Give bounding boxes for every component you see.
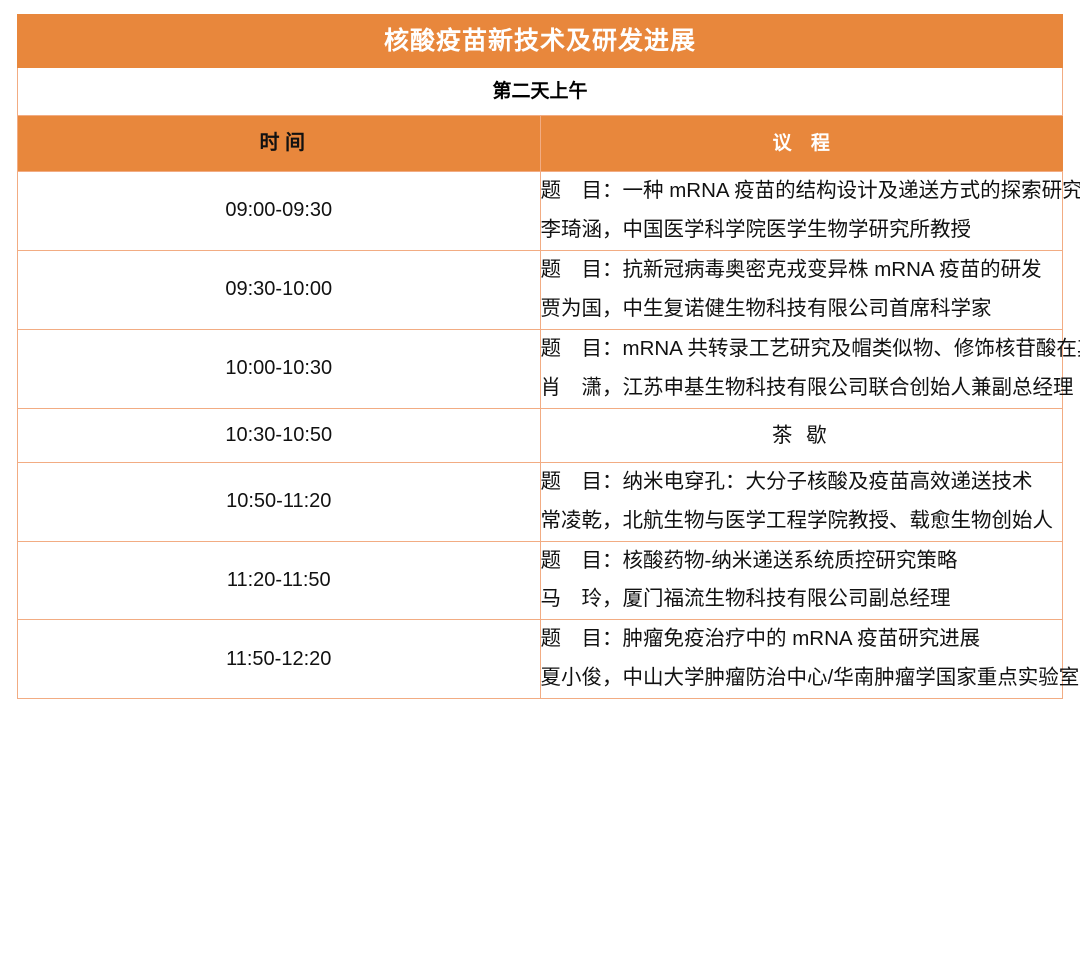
session-speaker: 李琦涵，中国医学科学院医学生物学研究所教授 [541, 211, 1063, 250]
session-speaker: 马 玲，厦门福流生物科技有限公司副总经理 [541, 580, 1063, 619]
row-time: 10:50-11:20 [18, 462, 541, 541]
table-row: 10:00-10:30 题 目：mRNA 共转录工艺研究及帽类似物、修饰核苷酸在… [18, 329, 1063, 408]
session-title: 题 目：抗新冠病毒奥密克戎变异株 mRNA 疫苗的研发 [541, 251, 1063, 290]
row-agenda: 题 目：一种 mRNA 疫苗的结构设计及递送方式的探索研究 李琦涵，中国医学科学… [540, 172, 1063, 251]
session-title: 题 目：核酸药物-纳米递送系统质控研究策略 [541, 542, 1063, 581]
session-title: 题 目：mRNA 共转录工艺研究及帽类似物、修饰核苷酸在其中的应用 [541, 330, 1063, 369]
table-row-break: 10:30-10:50 茶 歇 [18, 408, 1063, 462]
page-title: 核酸疫苗新技术及研发进展 [18, 15, 1063, 68]
row-time: 11:20-11:50 [18, 541, 541, 620]
row-agenda-break: 茶 歇 [540, 408, 1063, 462]
row-agenda: 题 目：核酸药物-纳米递送系统质控研究策略 马 玲，厦门福流生物科技有限公司副总… [540, 541, 1063, 620]
break-label: 茶 歇 [772, 424, 831, 447]
table-row: 10:50-11:20 题 目：纳米电穿孔：大分子核酸及疫苗高效递送技术 常凌乾… [18, 462, 1063, 541]
row-time: 09:30-10:00 [18, 250, 541, 329]
session-title: 题 目：肿瘤免疫治疗中的 mRNA 疫苗研究进展 [541, 620, 1063, 659]
table-row: 09:30-10:00 题 目：抗新冠病毒奥密克戎变异株 mRNA 疫苗的研发 … [18, 250, 1063, 329]
session-title: 题 目：一种 mRNA 疫苗的结构设计及递送方式的探索研究 [541, 172, 1063, 211]
row-agenda: 题 目：纳米电穿孔：大分子核酸及疫苗高效递送技术 常凌乾，北航生物与医学工程学院… [540, 462, 1063, 541]
agenda-page: 核酸疫苗新技术及研发进展 第二天上午 时 间 议 程 09:00-09:30 题… [0, 0, 1080, 961]
table-row: 11:50-12:20 题 目：肿瘤免疫治疗中的 mRNA 疫苗研究进展 夏小俊… [18, 620, 1063, 699]
column-header-agenda: 议 程 [540, 116, 1063, 172]
banner-row: 核酸疫苗新技术及研发进展 [18, 15, 1063, 68]
row-agenda: 题 目：肿瘤免疫治疗中的 mRNA 疫苗研究进展 夏小俊，中山大学肿瘤防治中心/… [540, 620, 1063, 699]
row-time: 10:30-10:50 [18, 408, 541, 462]
row-agenda: 题 目：mRNA 共转录工艺研究及帽类似物、修饰核苷酸在其中的应用 肖 潇，江苏… [540, 329, 1063, 408]
session-title: 题 目：纳米电穿孔：大分子核酸及疫苗高效递送技术 [541, 463, 1063, 502]
column-header-row: 时 间 议 程 [18, 116, 1063, 172]
session-speaker: 肖 潇，江苏申基生物科技有限公司联合创始人兼副总经理 [541, 369, 1063, 408]
session-day-subtitle: 第二天上午 [18, 68, 1063, 116]
table-row: 09:00-09:30 题 目：一种 mRNA 疫苗的结构设计及递送方式的探索研… [18, 172, 1063, 251]
agenda-table: 核酸疫苗新技术及研发进展 第二天上午 时 间 议 程 09:00-09:30 题… [17, 14, 1063, 699]
row-time: 11:50-12:20 [18, 620, 541, 699]
subtitle-row: 第二天上午 [18, 68, 1063, 116]
agenda-table-body: 核酸疫苗新技术及研发进展 第二天上午 时 间 议 程 09:00-09:30 题… [18, 15, 1063, 699]
row-time: 10:00-10:30 [18, 329, 541, 408]
row-time: 09:00-09:30 [18, 172, 541, 251]
column-header-time: 时 间 [18, 116, 541, 172]
session-speaker: 贾为国，中生复诺健生物科技有限公司首席科学家 [541, 290, 1063, 329]
session-speaker: 常凌乾，北航生物与医学工程学院教授、载愈生物创始人 [541, 502, 1063, 541]
table-row: 11:20-11:50 题 目：核酸药物-纳米递送系统质控研究策略 马 玲，厦门… [18, 541, 1063, 620]
row-agenda: 题 目：抗新冠病毒奥密克戎变异株 mRNA 疫苗的研发 贾为国，中生复诺健生物科… [540, 250, 1063, 329]
session-speaker: 夏小俊，中山大学肿瘤防治中心/华南肿瘤学国家重点实验室研究员 [541, 659, 1063, 698]
